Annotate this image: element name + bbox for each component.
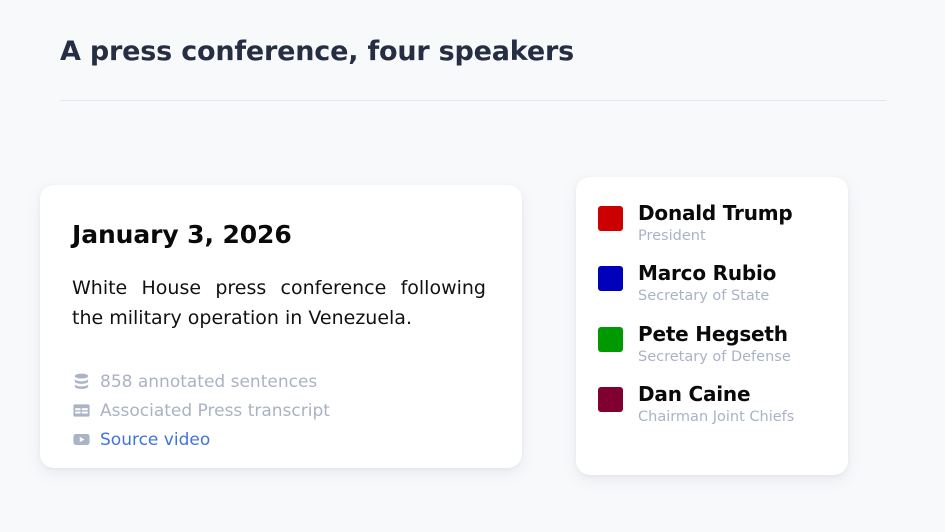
table-icon [72, 401, 91, 420]
speaker-text: Donald Trump President [638, 201, 793, 245]
meta-row-transcript: Associated Press transcript [72, 396, 486, 425]
speaker-role: Secretary of Defense [638, 349, 791, 366]
session-meta-list: 858 annotated sentences Associated Press… [72, 367, 486, 454]
database-icon [72, 372, 91, 391]
meta-row-source-video[interactable]: Source video [72, 425, 486, 454]
speaker-name: Donald Trump [638, 201, 793, 225]
page-root: A press conference, four speakers Januar… [0, 0, 945, 532]
speaker-color-swatch [598, 387, 623, 412]
meta-label-transcript: Associated Press transcript [100, 403, 330, 420]
speakers-card: Donald Trump President Marco Rubio Secre… [576, 177, 848, 475]
speaker-name: Pete Hegseth [638, 322, 788, 346]
speaker-row[interactable]: Marco Rubio Secretary of State [598, 261, 826, 305]
speaker-name: Marco Rubio [638, 261, 776, 285]
page-title: A press conference, four speakers [60, 36, 574, 67]
speaker-name: Dan Caine [638, 382, 750, 406]
speaker-color-swatch [598, 206, 623, 231]
meta-link-source-video[interactable]: Source video [100, 432, 210, 449]
speaker-row[interactable]: Pete Hegseth Secretary of Defense [598, 322, 826, 366]
speaker-row[interactable]: Dan Caine Chairman Joint Chiefs [598, 382, 826, 426]
meta-label-sentences: 858 annotated sentences [100, 374, 317, 391]
speaker-text: Pete Hegseth Secretary of Defense [638, 322, 791, 366]
video-play-icon [72, 430, 91, 449]
speaker-color-swatch [598, 266, 623, 291]
speaker-color-swatch [598, 327, 623, 352]
session-card: January 3, 2026 White House press confer… [40, 185, 522, 468]
speaker-role: Chairman Joint Chiefs [638, 409, 794, 426]
meta-row-sentences: 858 annotated sentences [72, 367, 486, 396]
session-description: White House press conference following t… [72, 273, 486, 333]
speaker-role: President [638, 228, 793, 245]
session-date: January 3, 2026 [72, 221, 486, 249]
speaker-text: Dan Caine Chairman Joint Chiefs [638, 382, 794, 426]
speaker-text: Marco Rubio Secretary of State [638, 261, 776, 305]
speaker-row[interactable]: Donald Trump President [598, 201, 826, 245]
speaker-role: Secretary of State [638, 288, 776, 305]
title-divider [60, 100, 886, 101]
